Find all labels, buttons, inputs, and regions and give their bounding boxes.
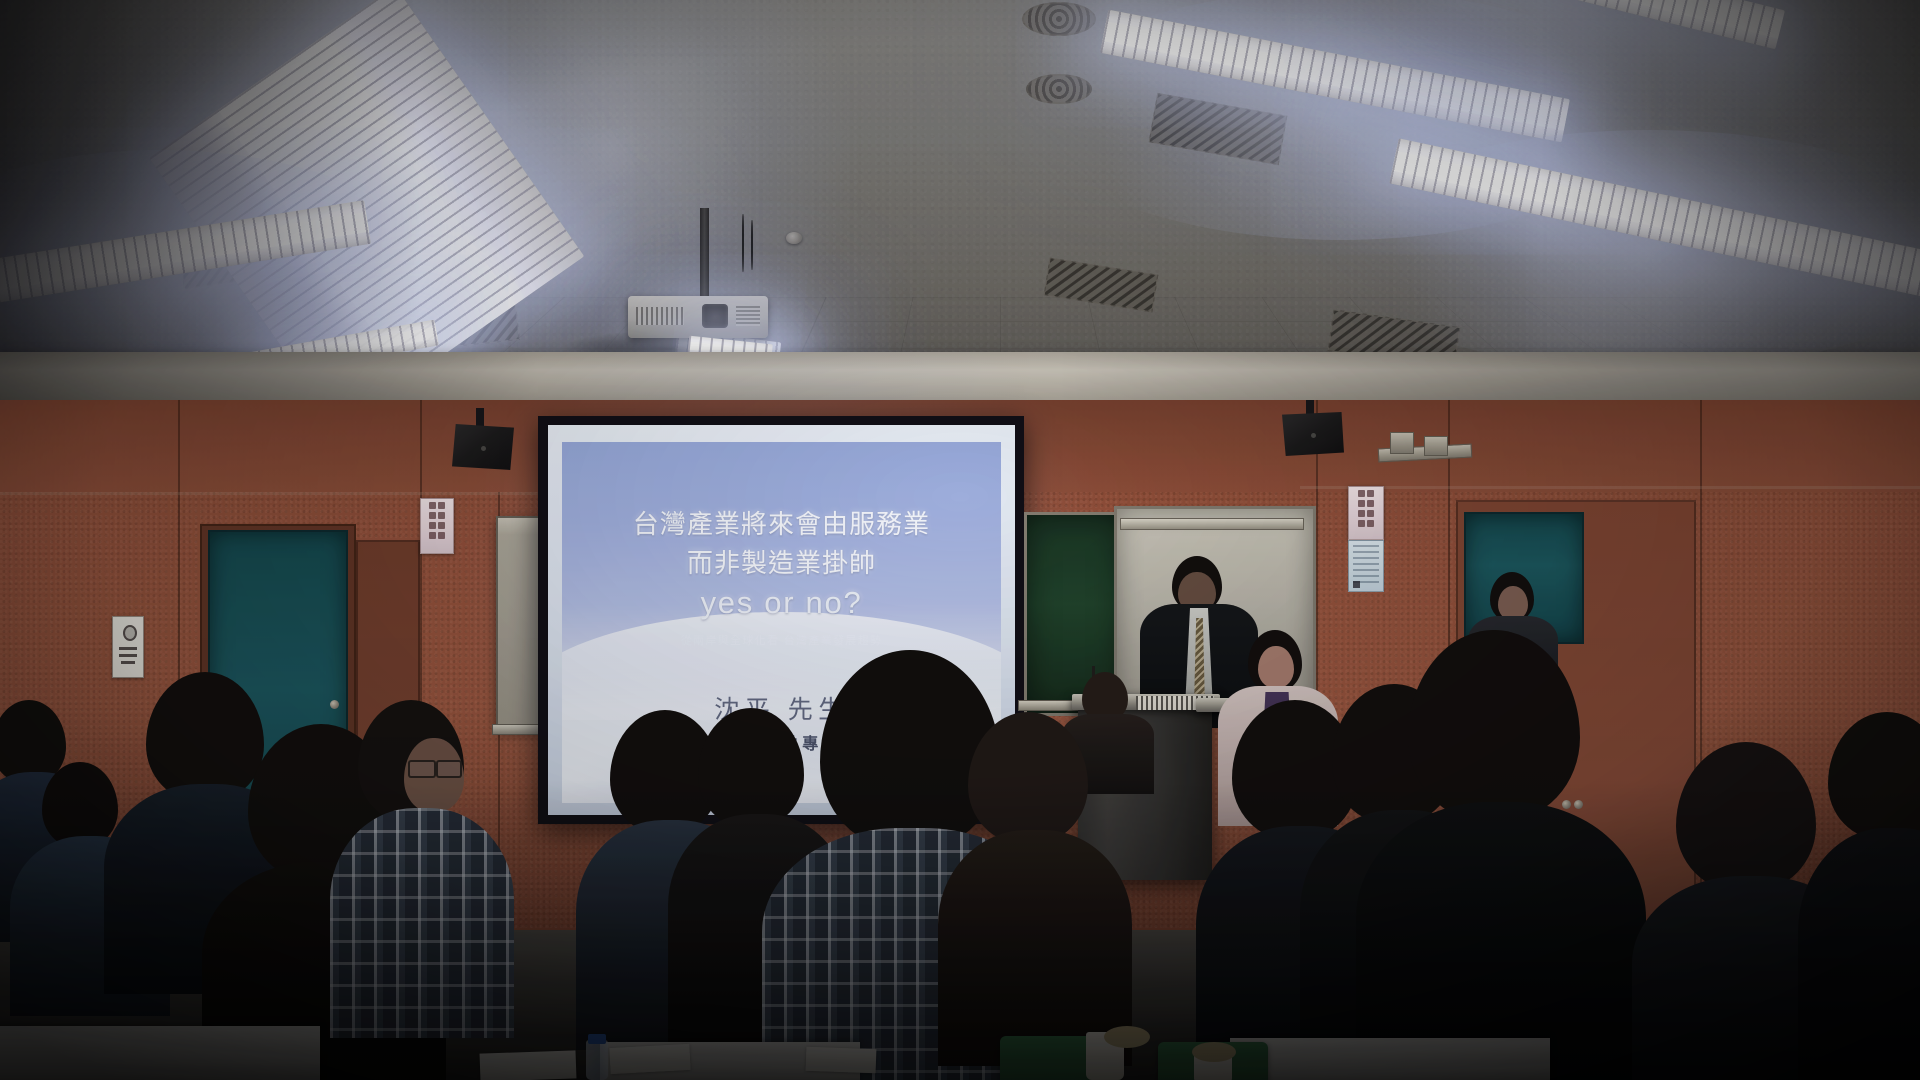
glasses-icon	[436, 760, 462, 778]
projector-lens-icon	[702, 304, 728, 328]
wall-poster-right-bottom	[1348, 540, 1384, 592]
wall-trim	[0, 492, 540, 495]
table-front-right	[1230, 1038, 1550, 1080]
lecture-hall-photo: 台灣產業將來會由服務業 而非製造業掛帥 yes or no? 從兩岸與全球化看 …	[0, 0, 1920, 1080]
head	[1828, 712, 1920, 840]
glasses-icon	[408, 760, 436, 778]
slide-headline-line-1: 台灣產業將來會由服務業	[562, 504, 1001, 541]
water-bottle[interactable]	[586, 1040, 608, 1080]
projector-grill-icon	[636, 307, 684, 325]
whiteboard-rail	[1120, 518, 1304, 530]
projector-mount	[700, 208, 709, 298]
speaker-bracket	[476, 408, 484, 428]
wall-bracket-right	[1390, 432, 1414, 454]
wall-trim	[1300, 486, 1920, 489]
ceiling-diffuser-3	[1026, 74, 1092, 104]
ceiling-cable	[742, 214, 744, 272]
paper-on-table[interactable]	[609, 1044, 690, 1074]
table-front-left	[0, 1026, 320, 1080]
assistant-face	[1258, 646, 1294, 688]
cup-lid-icon	[1192, 1042, 1236, 1062]
head	[968, 712, 1088, 844]
slide-headline-line-2: 而非製造業掛帥	[562, 543, 1001, 580]
head	[1408, 630, 1580, 822]
wall-poster-right-top	[1348, 486, 1384, 540]
audience-member	[1818, 712, 1920, 1080]
bottle-cap-icon	[588, 1034, 606, 1044]
head	[698, 708, 804, 828]
slide-subtitle: 從兩岸與全球化看 台灣產業發展趨勢	[562, 632, 1001, 648]
head	[1676, 742, 1816, 892]
wall-speaker-right	[1282, 412, 1344, 456]
ceiling-projector	[628, 296, 768, 338]
door-knob-icon[interactable]	[330, 700, 339, 709]
wall-poster-left	[420, 498, 454, 554]
wall-speaker-left	[452, 424, 514, 470]
wall-bracket-right	[1424, 436, 1448, 456]
paper-on-table[interactable]	[806, 1047, 877, 1073]
slide-question: yes or no?	[562, 585, 1001, 621]
exit-sign	[112, 616, 144, 678]
audience-member-with-glasses	[352, 700, 482, 1030]
face	[1498, 586, 1528, 620]
paper-on-table[interactable]	[480, 1050, 577, 1080]
audience-member	[1396, 630, 1612, 1080]
smoke-detector-icon	[786, 232, 802, 244]
cup-lid-icon	[1104, 1026, 1150, 1048]
ceiling-diffuser-2	[1022, 2, 1096, 36]
torso-plaid-shirt	[330, 808, 514, 1038]
ceiling	[0, 0, 1920, 400]
ceiling-cable	[751, 220, 753, 270]
projector-vent-icon	[736, 306, 760, 326]
audience-member	[960, 712, 1106, 1052]
torso	[938, 830, 1132, 1066]
